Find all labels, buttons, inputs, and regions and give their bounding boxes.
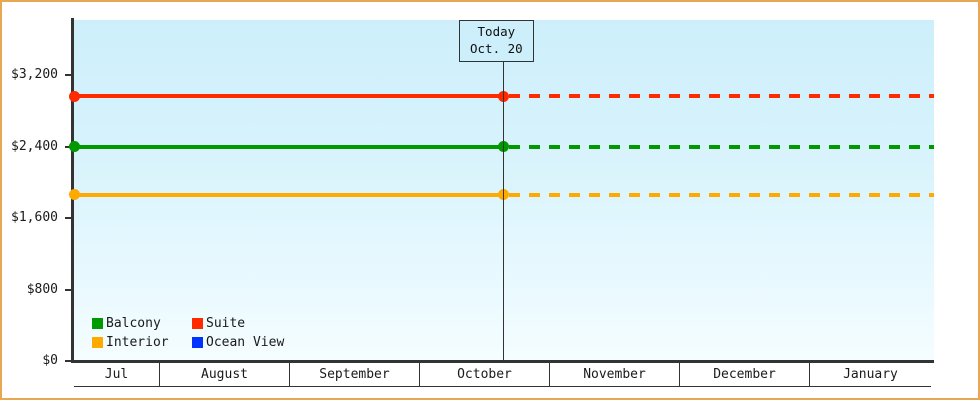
month-label-august[interactable]: August [160, 363, 290, 386]
series-line-balcony [74, 145, 503, 149]
legend-item-ocean-view[interactable]: Ocean View [192, 335, 284, 350]
y-tick-mark [65, 289, 72, 291]
month-label-jul[interactable]: Jul [74, 363, 160, 386]
legend-item-label: Ocean View [206, 335, 284, 350]
month-label-january[interactable]: January [810, 363, 931, 386]
legend-item-interior[interactable]: Interior [92, 335, 192, 350]
y-axis-label: $2,400 [11, 139, 58, 154]
chart-frame: $0$800$1,600$2,400$3,200 Today Oct. 20 B… [0, 0, 980, 400]
today-vertical-line [503, 20, 504, 361]
chart-legend: BalconySuiteInteriorOcean View [92, 314, 284, 352]
y-axis-label: $3,200 [11, 67, 58, 82]
y-axis-label: $800 [27, 282, 58, 297]
month-label-november[interactable]: November [550, 363, 680, 386]
legend-item-label: Suite [206, 316, 245, 331]
month-label-october[interactable]: October [420, 363, 550, 386]
y-tick-mark [65, 360, 72, 362]
legend-swatch-icon [192, 318, 203, 329]
legend-swatch-icon [92, 337, 103, 348]
series-forecast-suite [509, 94, 934, 98]
legend-item-label: Interior [106, 335, 169, 350]
today-label: Today [470, 24, 523, 41]
series-forecast-interior [509, 193, 934, 197]
today-date: Oct. 20 [470, 41, 523, 58]
series-marker-start-suite [69, 91, 80, 102]
today-annotation-box: Today Oct. 20 [459, 20, 534, 62]
month-label-december[interactable]: December [680, 363, 810, 386]
legend-item-suite[interactable]: Suite [192, 316, 284, 331]
series-line-suite [74, 94, 503, 98]
y-tick-mark [65, 217, 72, 219]
y-tick-mark [65, 74, 72, 76]
x-axis-month-labels: JulAugustSeptemberOctoberNovemberDecembe… [74, 363, 931, 387]
series-marker-start-balcony [69, 141, 80, 152]
legend-item-balcony[interactable]: Balcony [92, 316, 192, 331]
series-line-interior [74, 193, 503, 197]
legend-swatch-icon [192, 337, 203, 348]
legend-item-label: Balcony [106, 316, 161, 331]
y-axis-label: $0 [42, 353, 58, 368]
month-label-september[interactable]: September [290, 363, 420, 386]
series-forecast-balcony [509, 145, 934, 149]
legend-swatch-icon [92, 318, 103, 329]
y-axis-label: $1,600 [11, 210, 58, 225]
